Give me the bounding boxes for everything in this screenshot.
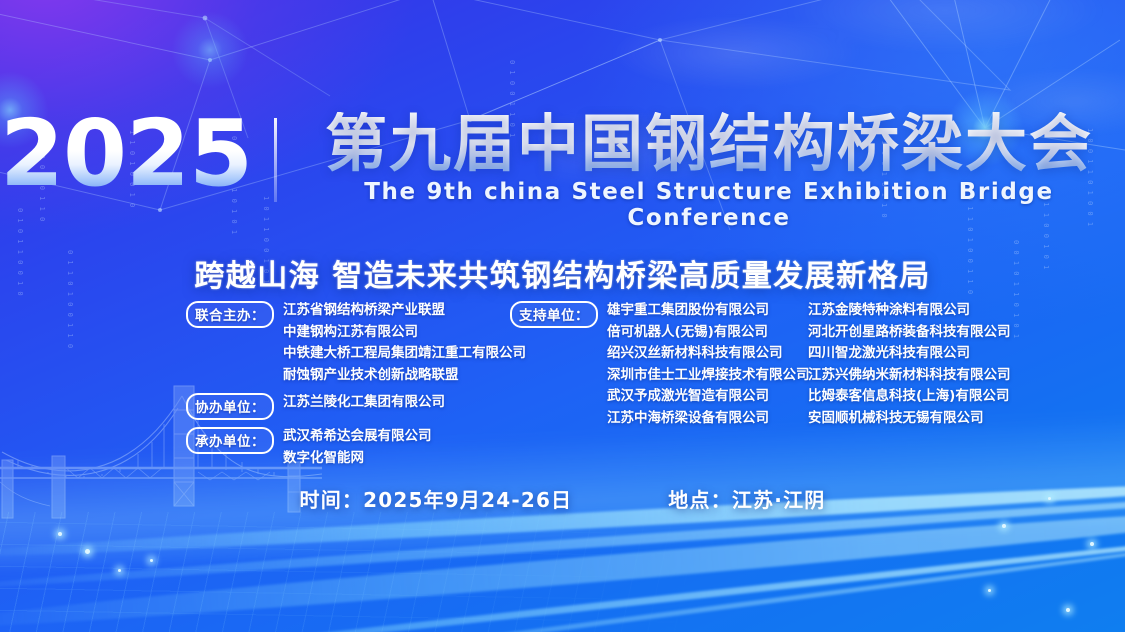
spark-dot — [85, 549, 90, 554]
light-streak — [0, 527, 1125, 632]
list-item: 中铁建大桥工程局集团靖江重工有限公司 — [283, 343, 526, 365]
conference-banner: 0 1 0 1 1 0 0 1 0 1 0 0 1 0 1 1 0 0 1 1 … — [0, 0, 1125, 632]
supporter-items-continued: 江苏金陵特种涂料有限公司 河北开创星路桥装备科技有限公司 四川智龙激光科技有限公… — [806, 300, 1106, 429]
list-item: 四川智龙激光科技有限公司 — [806, 343, 1106, 365]
glow-node-left — [170, 10, 250, 90]
event-meta: 时间：2025年9月24-26日 地点：江苏·江阴 — [0, 484, 1125, 513]
tagline: 跨越山海 智造未来共筑钢结构桥梁高质量发展新格局 — [0, 251, 1125, 295]
organizers-middle-column: 支持单位： 雄宇重工集团股份有限公司 倍可机器人(无锡)有限公司 绍兴汉丝新材料… — [510, 300, 810, 435]
list-item: 比姆泰客信息科技(上海)有限公司 — [806, 386, 1106, 408]
title-divider — [274, 118, 277, 202]
spark-dot — [988, 589, 991, 592]
title-texts: 第九届中国钢结构桥梁大会 The 9th china Steel Structu… — [293, 112, 1125, 231]
list-item: 河北开创星路桥装备科技有限公司 — [806, 322, 1106, 344]
title-row: 2025 第九届中国钢结构桥梁大会 The 9th china Steel St… — [0, 112, 1125, 231]
list-item: 江苏兴佛纳米新材料科技有限公司 — [806, 365, 1106, 387]
label-supporter: 支持单位： — [510, 301, 598, 328]
co-host-items: 江苏省钢结构桥梁产业联盟 中建钢构江苏有限公司 中铁建大桥工程局集团靖江重工有限… — [283, 300, 526, 386]
list-item: 深圳市佳士工业焊接技术有限公司 — [607, 365, 810, 387]
event-date: 时间：2025年9月24-26日 — [300, 484, 573, 513]
spark-dot — [1090, 542, 1094, 546]
list-item: 江苏中海桥梁设备有限公司 — [607, 408, 810, 430]
spark-dot — [58, 532, 62, 536]
organizer-group-supporter: 支持单位： 雄宇重工集团股份有限公司 倍可机器人(无锡)有限公司 绍兴汉丝新材料… — [510, 300, 810, 429]
spark-dot — [150, 559, 153, 562]
spark-dot — [1002, 524, 1006, 528]
organizers-right-column: 江苏金陵特种涂料有限公司 河北开创星路桥装备科技有限公司 四川智龙激光科技有限公… — [806, 300, 1106, 429]
list-item: 倍可机器人(无锡)有限公司 — [607, 322, 810, 344]
organizer-group-co-host: 联合主办： 江苏省钢结构桥梁产业联盟 中建钢构江苏有限公司 中铁建大桥工程局集团… — [186, 300, 516, 386]
list-item: 雄宇重工集团股份有限公司 — [607, 300, 810, 322]
list-item: 安固顺机械科技无锡有限公司 — [806, 408, 1106, 430]
page-subtitle-en: The 9th china Steel Structure Exhibition… — [293, 179, 1125, 231]
perspective-grid — [0, 512, 1125, 632]
light-streak — [0, 526, 1125, 632]
list-item: 耐蚀钢产业技术创新战略联盟 — [283, 365, 526, 387]
organizer-group-undertaker: 承办单位： 武汉希希达会展有限公司 数字化智能网 — [186, 426, 516, 469]
list-item: 武汉希希达会展有限公司 — [283, 426, 432, 448]
organizers-left-column: 联合主办： 江苏省钢结构桥梁产业联盟 中建钢构江苏有限公司 中铁建大桥工程局集团… — [186, 300, 516, 475]
label-co-host: 联合主办： — [186, 301, 274, 328]
spark-dot — [1066, 608, 1070, 612]
organizers-section: 联合主办： 江苏省钢结构桥梁产业联盟 中建钢构江苏有限公司 中铁建大桥工程局集团… — [0, 300, 1125, 465]
label-undertaker: 承办单位： — [186, 427, 274, 454]
organizer-group-co-organizer: 协办单位： 江苏兰陵化工集团有限公司 — [186, 392, 516, 420]
list-item: 绍兴汉丝新材料科技有限公司 — [607, 343, 810, 365]
page-title: 第九届中国钢结构桥梁大会 — [293, 112, 1125, 175]
spark-dot — [118, 569, 121, 572]
event-location: 地点：江苏·江阴 — [668, 484, 825, 513]
list-item: 数字化智能网 — [283, 448, 432, 470]
year-number: 2025 — [0, 112, 262, 197]
list-item: 江苏金陵特种涂料有限公司 — [806, 300, 1106, 322]
title-block: 2025 第九届中国钢结构桥梁大会 The 9th china Steel St… — [0, 112, 1125, 295]
undertaker-items: 武汉希希达会展有限公司 数字化智能网 — [283, 426, 432, 469]
list-item: 江苏省钢结构桥梁产业联盟 — [283, 300, 526, 322]
supporter-items: 雄宇重工集团股份有限公司 倍可机器人(无锡)有限公司 绍兴汉丝新材料科技有限公司… — [607, 300, 810, 429]
co-organizer-items: 江苏兰陵化工集团有限公司 — [283, 392, 445, 414]
list-item: 江苏兰陵化工集团有限公司 — [283, 392, 445, 414]
label-co-organizer: 协办单位： — [186, 393, 274, 420]
list-item: 中建钢构江苏有限公司 — [283, 322, 526, 344]
light-streak — [0, 499, 1125, 632]
list-item: 武汉予成激光智造有限公司 — [607, 386, 810, 408]
